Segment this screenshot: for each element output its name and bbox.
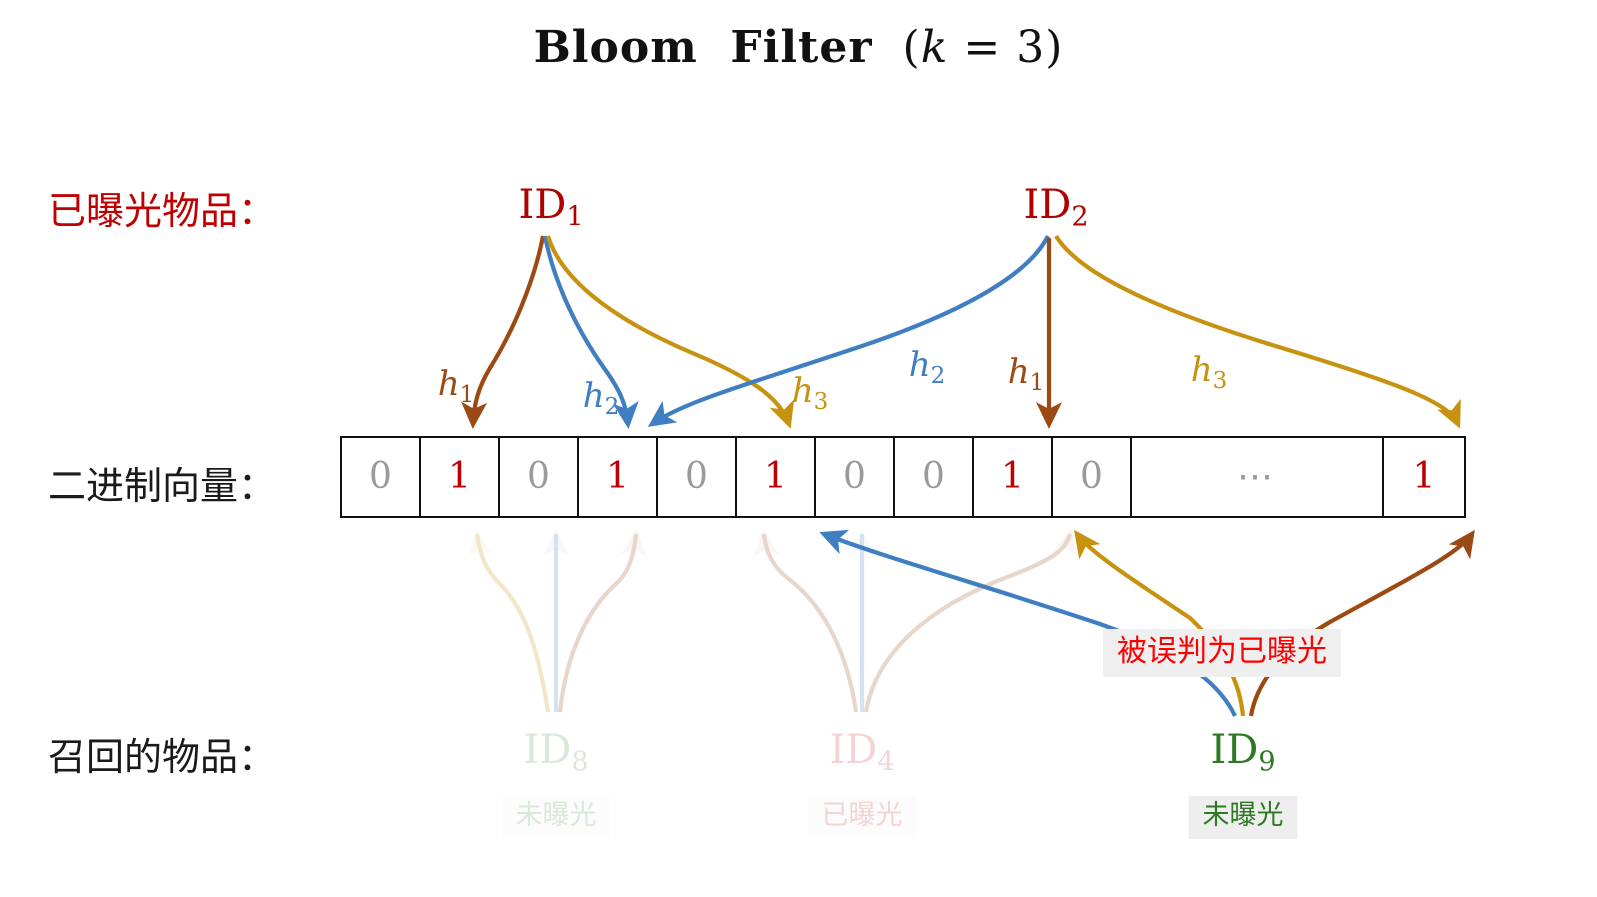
label-binary-vector: 二进制向量： bbox=[48, 455, 276, 510]
hash-label-id2-h1: h1 bbox=[1008, 352, 1045, 396]
vector-cell-9: 0 bbox=[1053, 438, 1132, 516]
hash-h2-sub: 2 bbox=[605, 394, 620, 420]
arrow-id9-h2 bbox=[824, 534, 1235, 716]
vector-cell-7: 0 bbox=[895, 438, 974, 516]
title-k-value: 3 bbox=[1016, 22, 1045, 73]
status-badge-id8: 未曝光 bbox=[502, 796, 611, 839]
node-id8-sub: 8 bbox=[571, 747, 588, 778]
vector-cell-8: 1 bbox=[974, 438, 1053, 516]
title-equals: = bbox=[948, 22, 1016, 73]
arrow-id9-h1 bbox=[1077, 534, 1243, 716]
vector-cell-1: 1 bbox=[421, 438, 500, 516]
status-badge-id9: 未曝光 bbox=[1189, 796, 1298, 839]
node-id8-name: ID bbox=[523, 727, 571, 773]
node-id1: ID1 bbox=[518, 182, 583, 233]
node-id9-sub: 9 bbox=[1258, 747, 1275, 778]
hash-label-id1-h3: h3 bbox=[792, 371, 829, 415]
vector-cell-ellipsis: ⋯ bbox=[1132, 438, 1384, 516]
node-id2-name: ID bbox=[1023, 182, 1071, 228]
arrow-id2-h2 bbox=[652, 236, 1048, 424]
arrow-id8-h3 bbox=[560, 534, 636, 712]
hash-h2-symbol: h bbox=[909, 345, 931, 385]
hash-label-id1-h2: h2 bbox=[583, 376, 620, 420]
label-exposed-items: 已曝光物品： bbox=[48, 180, 276, 235]
hash-label-id2-h2: h2 bbox=[909, 345, 946, 389]
hash-h3-sub: 3 bbox=[1213, 368, 1228, 394]
vector-cell-3: 1 bbox=[579, 438, 658, 516]
arrow-id9-h3 bbox=[1251, 534, 1472, 716]
node-id4-name: ID bbox=[829, 727, 877, 773]
title-k-symbol: k bbox=[921, 22, 949, 73]
vector-cell-last: 1 bbox=[1384, 438, 1464, 516]
vector-cell-5: 1 bbox=[737, 438, 816, 516]
node-id8: ID8 bbox=[523, 727, 588, 778]
arrow-id1-h1 bbox=[473, 236, 543, 424]
hash-h1-symbol: h bbox=[1008, 352, 1030, 392]
hash-h3-sub: 3 bbox=[814, 389, 829, 415]
hash-h1-symbol: h bbox=[438, 364, 460, 404]
hash-h3-symbol: h bbox=[1191, 350, 1213, 390]
vector-cell-6: 0 bbox=[816, 438, 895, 516]
node-id2: ID2 bbox=[1023, 182, 1088, 233]
node-id4: ID4 bbox=[829, 727, 894, 778]
vector-cell-0: 0 bbox=[342, 438, 421, 516]
arrow-id2-h3 bbox=[1056, 236, 1458, 424]
hash-label-id1-h1: h1 bbox=[438, 364, 475, 408]
label-recalled-items: 召回的物品： bbox=[48, 726, 276, 781]
node-id9: ID9 bbox=[1210, 727, 1275, 778]
page-title: Bloom Filter (k = 3) bbox=[0, 22, 1597, 73]
arrow-id4-h1 bbox=[764, 534, 856, 712]
hash-h3-symbol: h bbox=[792, 371, 814, 411]
title-paren-open: ( bbox=[903, 22, 921, 73]
node-id4-sub: 4 bbox=[877, 747, 894, 778]
status-badge-id4: 已曝光 bbox=[808, 796, 917, 839]
binary-vector: 0 1 0 1 0 1 0 0 1 0 ⋯ 1 bbox=[340, 436, 1466, 518]
vector-cell-4: 0 bbox=[658, 438, 737, 516]
node-id9-name: ID bbox=[1210, 727, 1258, 773]
hash-h1-sub: 1 bbox=[460, 382, 475, 408]
title-paren-close: ) bbox=[1045, 22, 1063, 73]
title-text: Bloom Filter bbox=[534, 22, 873, 73]
vector-cell-2: 0 bbox=[500, 438, 579, 516]
node-id2-sub: 2 bbox=[1071, 202, 1088, 233]
node-id1-name: ID bbox=[518, 182, 566, 228]
arrow-id8-h1 bbox=[477, 534, 548, 712]
hash-h2-symbol: h bbox=[583, 376, 605, 416]
annotation-misjudged: 被误判为已曝光 bbox=[1103, 629, 1341, 677]
node-id1-sub: 1 bbox=[566, 202, 583, 233]
hash-h2-sub: 2 bbox=[931, 363, 946, 389]
hash-h1-sub: 1 bbox=[1030, 370, 1045, 396]
arrow-id4-h3 bbox=[866, 534, 1070, 712]
hash-label-id2-h3: h3 bbox=[1191, 350, 1228, 394]
diagram-canvas: Bloom Filter (k = 3) 已曝光物品： 二进制向量： 召回的物品… bbox=[0, 0, 1597, 897]
